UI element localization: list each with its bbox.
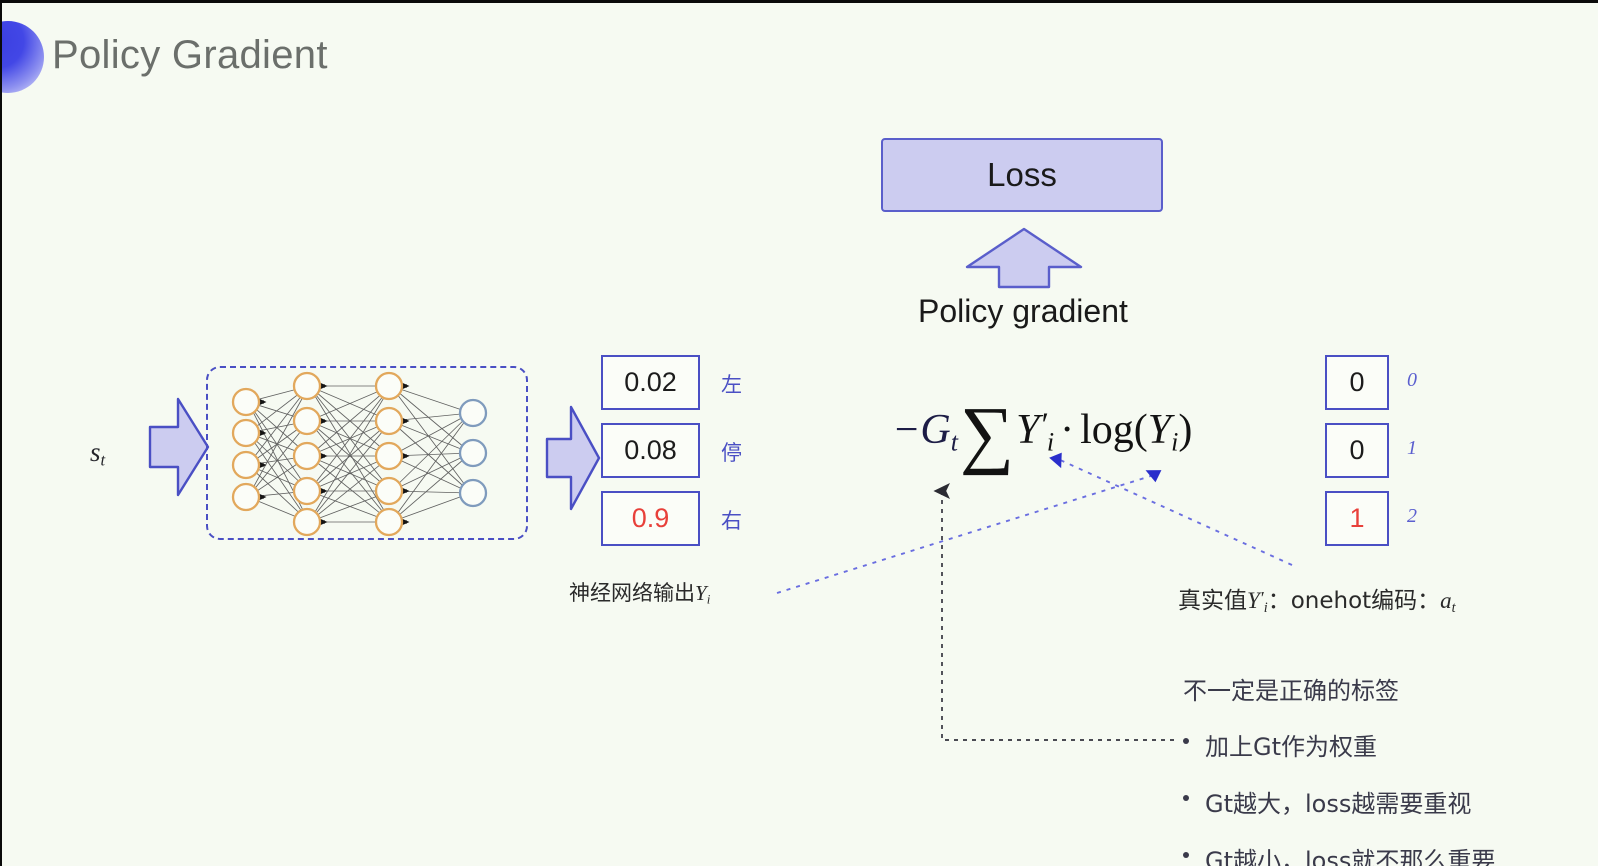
probability-label-stop: 停 [721, 437, 742, 467]
onehot-index-1: 1 [1407, 437, 1417, 460]
title-bullet-circle-icon [0, 21, 44, 93]
probability-label-left: 左 [721, 369, 742, 399]
formula-log-open: log( [1080, 407, 1148, 453]
formula-y-prime: Y [1016, 407, 1039, 453]
caption-ground-truth-prefix: 真实值 [1178, 588, 1247, 614]
probability-box-stop: 0.08 [601, 423, 700, 478]
probability-box-left: 0.02 [601, 355, 700, 410]
caption-ground-truth: 真实值Y′i：onehot编码：at [1178, 581, 1456, 617]
bullet-dot-icon [1183, 795, 1189, 801]
onehot-box-2: 1 [1325, 491, 1389, 546]
onehot-box-0: 0 [1325, 355, 1389, 410]
formula-g: G [920, 407, 950, 453]
note-item-2-text: Gt越大，loss越需要重视 [1205, 790, 1471, 818]
page-title: Policy Gradient [52, 33, 328, 78]
notes-block: 不一定是正确的标签 加上Gt作为权重 Gt越大，loss越需要重视 Gt越小，l… [1183, 671, 1495, 866]
neural-network-diagram [206, 366, 528, 540]
formula-y2: Y [1148, 407, 1171, 453]
state-symbol-subscript: t [101, 451, 106, 470]
output-block-arrow-icon [545, 403, 601, 513]
caption-ground-truth-middle: ：onehot编码： [1268, 588, 1440, 614]
onehot-box-1: 0 [1325, 423, 1389, 478]
caption-network-output-text: 神经网络输出 [569, 581, 695, 605]
connector-note-to-gt [942, 491, 1174, 740]
onehot-vector-group: 0 0 0 1 1 2 [1325, 355, 1389, 559]
policy-gradient-caption: Policy gradient [918, 293, 1128, 330]
probability-output-group: 0.02 左 0.08 停 0.9 右 [601, 355, 700, 559]
loss-formula: −Gt∑Y′i·log(Yi) [892, 391, 1192, 478]
note-item-2: Gt越大，loss越需要重视 [1183, 784, 1495, 819]
loss-box: Loss [881, 138, 1163, 212]
caption-network-output-subscript: i [707, 592, 711, 607]
formula-y-prime-subscript: i [1047, 427, 1054, 456]
bullet-dot-icon [1183, 852, 1189, 858]
state-input-label: st [90, 437, 105, 471]
connector-output-to-log [777, 475, 1154, 593]
formula-minus: − [892, 407, 920, 453]
formula-g-subscript: t [951, 427, 958, 456]
policy-gradient-up-arrow-icon [965, 227, 1083, 289]
formula-log-close: ) [1178, 407, 1192, 453]
caption-ground-truth-symbol: Y [1247, 588, 1260, 613]
onehot-index-0: 0 [1407, 369, 1417, 392]
onehot-index-2: 2 [1407, 505, 1417, 528]
note-item-1: 加上Gt作为权重 [1183, 727, 1495, 762]
probability-box-right: 0.9 [601, 491, 700, 546]
note-item-3: Gt越小，loss就不那么重要 [1183, 841, 1495, 866]
caption-network-output-symbol: Y [695, 581, 707, 605]
caption-action-symbol: a [1440, 588, 1452, 613]
slide-canvas: Policy Gradient st [0, 0, 1598, 866]
formula-sigma: ∑ [958, 392, 1016, 476]
state-symbol: s [90, 437, 101, 467]
input-block-arrow-icon [148, 395, 210, 499]
note-item-3-text: Gt越小，loss就不那么重要 [1205, 847, 1495, 866]
notes-heading: 不一定是正确的标签 [1183, 671, 1495, 706]
probability-label-right: 右 [721, 505, 742, 535]
formula-dot: · [1054, 407, 1080, 453]
caption-network-output: 神经网络输出Yi [569, 577, 710, 608]
bullet-dot-icon [1183, 738, 1189, 744]
caption-action-subscript: t [1452, 600, 1456, 616]
note-item-1-text: 加上Gt作为权重 [1205, 733, 1377, 761]
formula-prime-mark: ′ [1039, 407, 1046, 444]
